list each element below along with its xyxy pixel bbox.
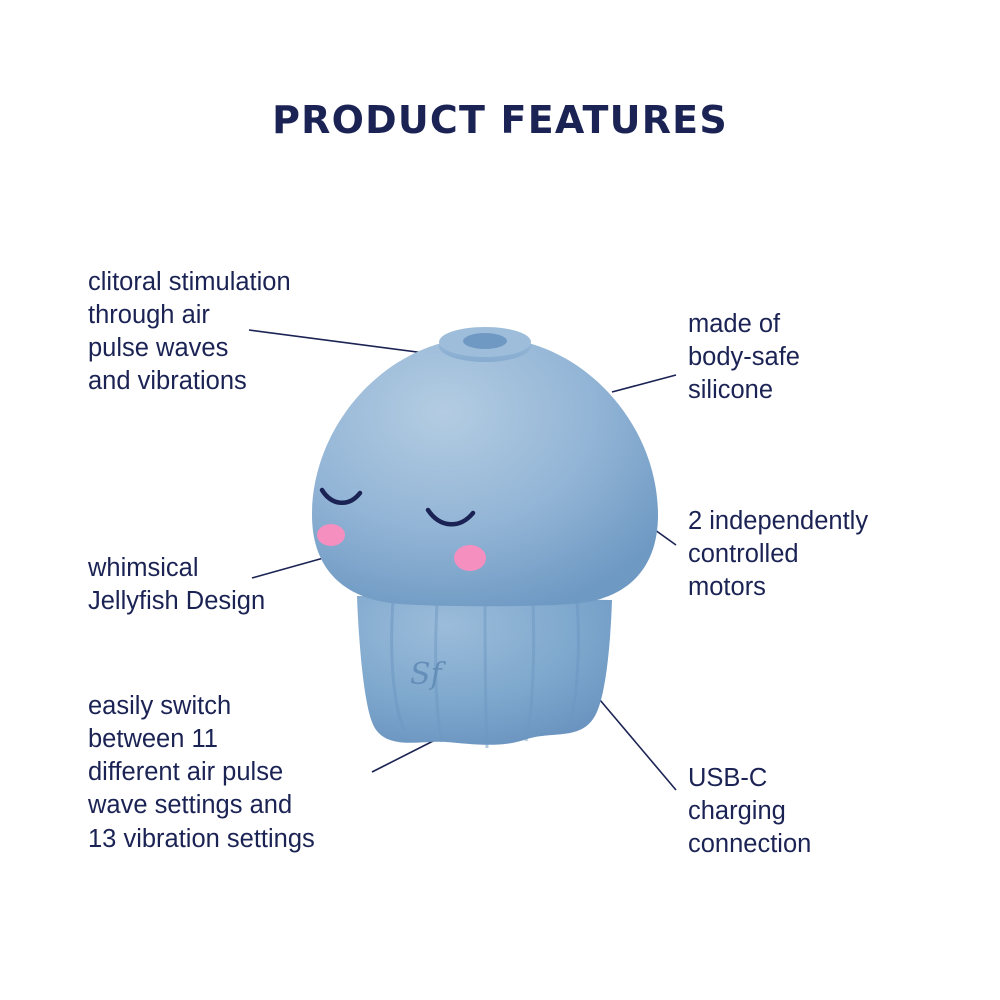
callout-motors: 2 independently controlled motors: [688, 505, 968, 604]
product-features-infographic: PRODUCT FEATURES: [0, 0, 1000, 1000]
callout-clitoral-stimulation: clitoral stimulation through air pulse w…: [88, 266, 388, 399]
right-blush-icon: [454, 545, 486, 571]
brand-logo-text: Sf: [410, 657, 447, 692]
air-pulse-nozzle: [439, 327, 531, 362]
left-blush-icon: [317, 524, 345, 546]
callout-whimsical-design: whimsical Jellyfish Design: [88, 552, 388, 618]
callout-body-safe-silicone: made of body-safe silicone: [688, 308, 948, 407]
callout-usbc-charging: USB-C charging connection: [688, 762, 948, 861]
callout-settings: easily switch between 11 different air p…: [88, 690, 418, 856]
